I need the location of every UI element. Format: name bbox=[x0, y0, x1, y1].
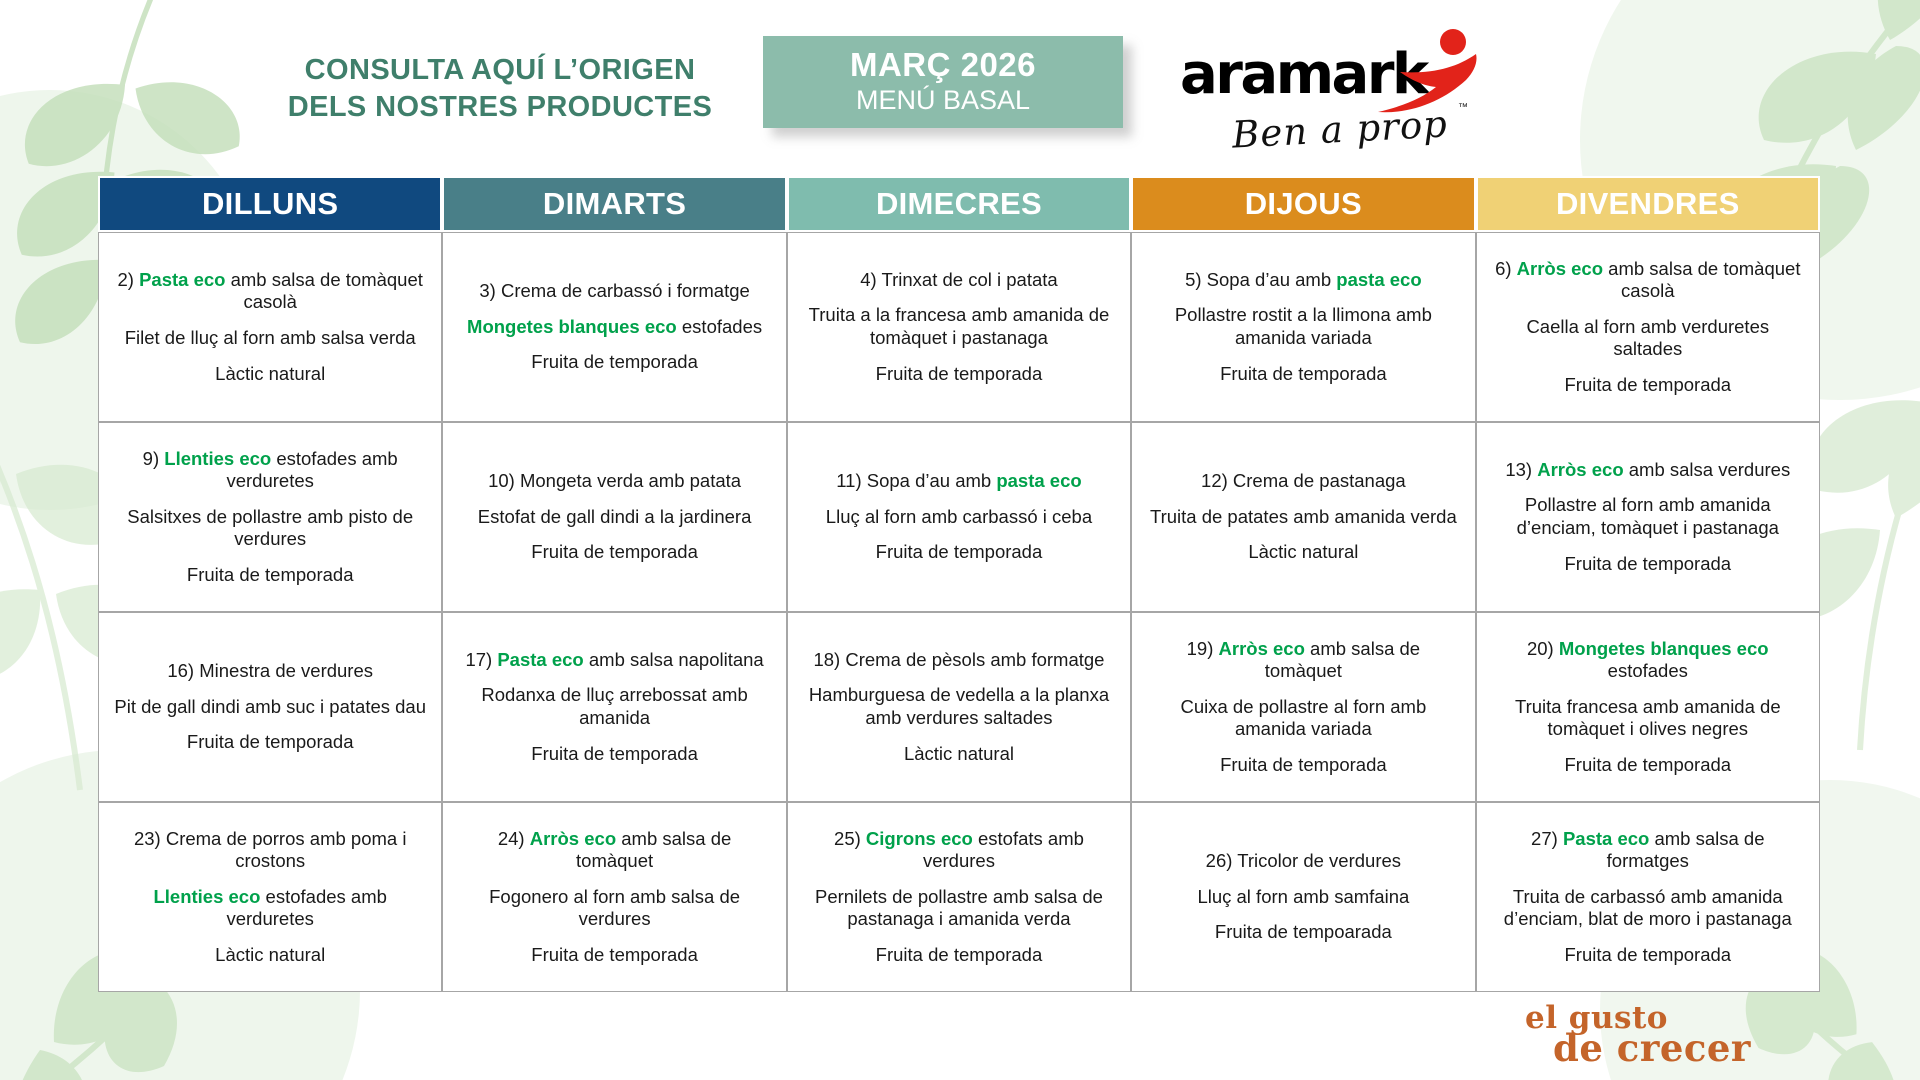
menu-dish-line: Lluç al forn amb carbassó i ceba bbox=[802, 506, 1116, 529]
eco-label: Cigrons eco bbox=[866, 828, 973, 849]
dish-text: 6) bbox=[1495, 258, 1517, 279]
menu-day-cell[interactable]: 2) Pasta eco amb salsa de tomàquet casol… bbox=[98, 232, 442, 422]
dish-text: 5) Sopa d’au amb bbox=[1185, 269, 1336, 290]
menu-dish-line: 25) Cigrons eco estofats amb verdures bbox=[802, 828, 1116, 873]
dish-text: 17) bbox=[465, 649, 497, 670]
dish-text: Làctic natural bbox=[904, 743, 1014, 764]
dish-text: 4) Trinxat de col i patata bbox=[860, 269, 1057, 290]
menu-day-cell[interactable]: 19) Arròs eco amb salsa de tomàquetCuixa… bbox=[1131, 612, 1475, 802]
aramark-tagline: Ben a prop bbox=[1231, 102, 1449, 156]
menu-dish-line: Cuixa de pollastre al forn amb amanida v… bbox=[1146, 696, 1460, 741]
dish-text: Fruita de temporada bbox=[1564, 374, 1731, 395]
menu-dish-line: Fruita de temporada bbox=[802, 541, 1116, 564]
menu-dish-line: 20) Mongetes blanques eco estofades bbox=[1491, 638, 1805, 683]
dish-text: estofades bbox=[677, 316, 762, 337]
dish-text: 16) Minestra de verdures bbox=[167, 660, 373, 681]
calendar-week-row: 23) Crema de porros amb poma i crostonsL… bbox=[98, 802, 1820, 992]
day-header-dimarts: DIMARTS bbox=[442, 176, 786, 232]
dish-text: 19) bbox=[1187, 638, 1219, 659]
aramark-logo: aramark ™ Ben a prop bbox=[1170, 20, 1490, 160]
calendar-week-row: 16) Minestra de verduresPit de gall dind… bbox=[98, 612, 1820, 802]
dish-text: Cuixa de pollastre al forn amb amanida v… bbox=[1180, 696, 1426, 740]
trademark-symbol: ™ bbox=[1458, 102, 1468, 113]
menu-dish-line: Salsitxes de pollastre amb pisto de verd… bbox=[113, 506, 427, 551]
dish-text: Làctic natural bbox=[215, 944, 325, 965]
menu-dish-line: Fruita de temporada bbox=[802, 944, 1116, 967]
dish-text: Salsitxes de pollastre amb pisto de verd… bbox=[127, 506, 413, 550]
eco-label: Llenties eco bbox=[153, 886, 260, 907]
eco-label: Arròs eco bbox=[1219, 638, 1305, 659]
dish-text: 20) bbox=[1527, 638, 1559, 659]
menu-dish-line: Truita a la francesa amb amanida de tomà… bbox=[802, 304, 1116, 349]
dish-text: Truita de carbassó amb amanida d’enciam,… bbox=[1504, 886, 1792, 930]
menu-dish-line: Fruita de temporada bbox=[457, 351, 771, 374]
menu-dish-line: Caella al forn amb verduretes saltades bbox=[1491, 316, 1805, 361]
dish-text: Fruita de temporada bbox=[876, 944, 1043, 965]
calendar-week-row: 2) Pasta eco amb salsa de tomàquet casol… bbox=[98, 232, 1820, 422]
menu-poster: CONSULTA AQUÍ L’ORIGEN DELS NOSTRES PROD… bbox=[0, 0, 1920, 1080]
dish-text: Fruita de temporada bbox=[531, 944, 698, 965]
dish-text: 27) bbox=[1531, 828, 1563, 849]
menu-dish-line: Fogonero al forn amb salsa de verdures bbox=[457, 886, 771, 931]
menu-day-cell[interactable]: 5) Sopa d’au amb pasta ecoPollastre rost… bbox=[1131, 232, 1475, 422]
dish-text: Fruita de temporada bbox=[187, 731, 354, 752]
day-header-dilluns: DILLUNS bbox=[98, 176, 442, 232]
eco-label: pasta eco bbox=[996, 470, 1081, 491]
menu-dish-line: Làctic natural bbox=[802, 743, 1116, 766]
menu-dish-line: 24) Arròs eco amb salsa de tomàquet bbox=[457, 828, 771, 873]
menu-dish-line: Truita francesa amb amanida de tomàquet … bbox=[1491, 696, 1805, 741]
month-title: MARÇ 2026 bbox=[850, 48, 1036, 83]
menu-dish-line: 3) Crema de carbassó i formatge bbox=[457, 280, 771, 303]
dish-text: 3) Crema de carbassó i formatge bbox=[479, 280, 749, 301]
menu-dish-line: Lluç al forn amb samfaina bbox=[1146, 886, 1460, 909]
menu-dish-line: Làctic natural bbox=[113, 363, 427, 386]
origin-heading-line1: CONSULTA AQUÍ L’ORIGEN bbox=[285, 52, 715, 89]
menu-day-cell[interactable]: 3) Crema de carbassó i formatgeMongetes … bbox=[442, 232, 786, 422]
gusto-logo-line2: de crecer bbox=[1553, 1026, 1751, 1070]
dish-text: Fruita de temporada bbox=[1564, 553, 1731, 574]
menu-day-cell[interactable]: 24) Arròs eco amb salsa de tomàquetFogon… bbox=[442, 802, 786, 992]
dish-text: Pit de gall dindi amb suc i patates dau bbox=[114, 696, 426, 717]
dish-text: Fruita de temporada bbox=[876, 363, 1043, 384]
dish-text: 12) Crema de pastanaga bbox=[1201, 470, 1406, 491]
menu-day-cell[interactable]: 25) Cigrons eco estofats amb verduresPer… bbox=[787, 802, 1131, 992]
dish-text: 11) Sopa d’au amb bbox=[836, 470, 996, 491]
calendar-week-row: 9) Llenties eco estofades amb verduretes… bbox=[98, 422, 1820, 612]
menu-dish-line: 17) Pasta eco amb salsa napolitana bbox=[457, 649, 771, 672]
menu-dish-line: Fruita de temporada bbox=[113, 731, 427, 754]
menu-dish-line: Truita de patates amb amanida verda bbox=[1146, 506, 1460, 529]
dish-text: Truita francesa amb amanida de tomàquet … bbox=[1515, 696, 1781, 740]
menu-dish-line: Fruita de temporada bbox=[1491, 754, 1805, 777]
menu-dish-line: 27) Pasta eco amb salsa de formatges bbox=[1491, 828, 1805, 873]
menu-dish-line: 19) Arròs eco amb salsa de tomàquet bbox=[1146, 638, 1460, 683]
menu-day-cell[interactable]: 17) Pasta eco amb salsa napolitanaRodanx… bbox=[442, 612, 786, 802]
menu-day-cell[interactable]: 12) Crema de pastanagaTruita de patates … bbox=[1131, 422, 1475, 612]
menu-dish-line: Pernilets de pollastre amb salsa de past… bbox=[802, 886, 1116, 931]
menu-day-cell[interactable]: 4) Trinxat de col i patataTruita a la fr… bbox=[787, 232, 1131, 422]
dish-text: 18) Crema de pèsols amb formatge bbox=[813, 649, 1104, 670]
dish-text: amb salsa de tomàquet casolà bbox=[1603, 258, 1800, 302]
calendar-header-row: DILLUNSDIMARTSDIMECRESDIJOUSDIVENDRES bbox=[98, 176, 1820, 232]
dish-text: 9) bbox=[143, 448, 165, 469]
eco-label: Pasta eco bbox=[1563, 828, 1649, 849]
dish-text: Fruita de temporada bbox=[1220, 754, 1387, 775]
menu-dish-line: 9) Llenties eco estofades amb verduretes bbox=[113, 448, 427, 493]
menu-dish-line: Fruita de temporada bbox=[457, 541, 771, 564]
menu-dish-line: Pollastre al forn amb amanida d’enciam, … bbox=[1491, 494, 1805, 539]
eco-label: Arròs eco bbox=[1517, 258, 1603, 279]
menu-day-cell[interactable]: 11) Sopa d’au amb pasta ecoLluç al forn … bbox=[787, 422, 1131, 612]
eco-label: pasta eco bbox=[1336, 269, 1421, 290]
menu-dish-line: Fruita de temporada bbox=[1146, 754, 1460, 777]
dish-text: Lluç al forn amb samfaina bbox=[1197, 886, 1409, 907]
origin-heading-line2: DELS NOSTRES PRODUCTES bbox=[285, 89, 715, 126]
menu-dish-line: 5) Sopa d’au amb pasta eco bbox=[1146, 269, 1460, 292]
menu-dish-line: 23) Crema de porros amb poma i crostons bbox=[113, 828, 427, 873]
menu-dish-line: Llenties eco estofades amb verduretes bbox=[113, 886, 427, 931]
menu-day-cell[interactable]: 18) Crema de pèsols amb formatgeHamburgu… bbox=[787, 612, 1131, 802]
menu-dish-line: Fruita de temporada bbox=[457, 743, 771, 766]
eco-label: Arròs eco bbox=[530, 828, 616, 849]
menu-dish-line: Truita de carbassó amb amanida d’enciam,… bbox=[1491, 886, 1805, 931]
dish-text: 2) bbox=[117, 269, 139, 290]
dish-text: Estofat de gall dindi a la jardinera bbox=[478, 506, 752, 527]
menu-dish-line: Fruita de temporada bbox=[1491, 944, 1805, 967]
dish-text: Fruita de temporada bbox=[1564, 754, 1731, 775]
dish-text: Truita de patates amb amanida verda bbox=[1150, 506, 1457, 527]
menu-dish-line: 4) Trinxat de col i patata bbox=[802, 269, 1116, 292]
dish-text: Fruita de temporada bbox=[876, 541, 1043, 562]
eco-label: Pasta eco bbox=[497, 649, 583, 670]
menu-day-cell[interactable]: 27) Pasta eco amb salsa de formatgesTrui… bbox=[1476, 802, 1820, 992]
menu-dish-line: 6) Arròs eco amb salsa de tomàquet casol… bbox=[1491, 258, 1805, 303]
eco-label: Pasta eco bbox=[139, 269, 225, 290]
day-header-divendres: DIVENDRES bbox=[1476, 176, 1820, 232]
dish-text: amb salsa napolitana bbox=[584, 649, 764, 670]
dish-text: Pollastre al forn amb amanida d’enciam, … bbox=[1517, 494, 1779, 538]
menu-dish-line: 18) Crema de pèsols amb formatge bbox=[802, 649, 1116, 672]
el-gusto-de-crecer-logo: el gusto de crecer bbox=[1505, 998, 1755, 1068]
dish-text: Caella al forn amb verduretes saltades bbox=[1526, 316, 1769, 360]
menu-dish-line: 10) Mongeta verda amb patata bbox=[457, 470, 771, 493]
menu-dish-line: Làctic natural bbox=[1146, 541, 1460, 564]
menu-dish-line: 26) Tricolor de verdures bbox=[1146, 850, 1460, 873]
dish-text: Lluç al forn amb carbassó i ceba bbox=[826, 506, 1092, 527]
menu-dish-line: Hamburguesa de vedella a la planxa amb v… bbox=[802, 684, 1116, 729]
eco-label: Mongetes blanques eco bbox=[467, 316, 677, 337]
menu-day-cell[interactable]: 9) Llenties eco estofades amb verduretes… bbox=[98, 422, 442, 612]
dish-text: Fruita de temporada bbox=[531, 743, 698, 764]
dish-text: Truita a la francesa amb amanida de tomà… bbox=[809, 304, 1110, 348]
menu-day-cell[interactable]: 20) Mongetes blanques eco estofadesTruit… bbox=[1476, 612, 1820, 802]
dish-text: Làctic natural bbox=[215, 363, 325, 384]
dish-text: Làctic natural bbox=[1248, 541, 1358, 562]
menu-day-cell[interactable]: 26) Tricolor de verduresLluç al forn amb… bbox=[1131, 802, 1475, 992]
dish-text: 13) bbox=[1505, 459, 1537, 480]
origin-heading: CONSULTA AQUÍ L’ORIGEN DELS NOSTRES PROD… bbox=[285, 52, 715, 126]
menu-dish-line: 11) Sopa d’au amb pasta eco bbox=[802, 470, 1116, 493]
menu-dish-line: Filet de lluç al forn amb salsa verda bbox=[113, 327, 427, 350]
menu-dish-line: Pollastre rostit a la llimona amb amanid… bbox=[1146, 304, 1460, 349]
calendar-body: 2) Pasta eco amb salsa de tomàquet casol… bbox=[98, 232, 1820, 992]
poster-header: CONSULTA AQUÍ L’ORIGEN DELS NOSTRES PROD… bbox=[0, 0, 1920, 170]
dish-text: Pernilets de pollastre amb salsa de past… bbox=[815, 886, 1103, 930]
menu-dish-line: Fruita de temporada bbox=[1491, 553, 1805, 576]
menu-dish-line: Fruita de temporada bbox=[1491, 374, 1805, 397]
menu-dish-line: Fruita de temporada bbox=[113, 564, 427, 587]
dish-text: Pollastre rostit a la llimona amb amanid… bbox=[1175, 304, 1432, 348]
menu-dish-line: Fruita de temporada bbox=[1146, 363, 1460, 386]
dish-text: Fogonero al forn amb salsa de verdures bbox=[489, 886, 740, 930]
menu-calendar-table: DILLUNSDIMARTSDIMECRESDIJOUSDIVENDRES 2)… bbox=[98, 176, 1820, 992]
dish-text: Fruita de temporada bbox=[1564, 944, 1731, 965]
dish-text: 24) bbox=[498, 828, 530, 849]
dish-text: 23) Crema de porros amb poma i crostons bbox=[134, 828, 406, 872]
menu-day-cell[interactable]: 23) Crema de porros amb poma i crostonsL… bbox=[98, 802, 442, 992]
menu-day-cell[interactable]: 13) Arròs eco amb salsa verduresPollastr… bbox=[1476, 422, 1820, 612]
dish-text: 25) bbox=[834, 828, 866, 849]
menu-dish-line: Fruita de temporada bbox=[802, 363, 1116, 386]
dish-text: Fruita de temporada bbox=[531, 351, 698, 372]
dish-text: Rodanxa de lluç arrebossat amb amanida bbox=[481, 684, 747, 728]
dish-text: 10) Mongeta verda amb patata bbox=[488, 470, 741, 491]
menu-dish-line: Mongetes blanques eco estofades bbox=[457, 316, 771, 339]
menu-dish-line: 13) Arròs eco amb salsa verdures bbox=[1491, 459, 1805, 482]
dish-text: Fruita de temporada bbox=[531, 541, 698, 562]
dish-text: Filet de lluç al forn amb salsa verda bbox=[125, 327, 416, 348]
menu-dish-line: 12) Crema de pastanaga bbox=[1146, 470, 1460, 493]
day-header-dijous: DIJOUS bbox=[1131, 176, 1475, 232]
menu-dish-line: Fruita de tempoarada bbox=[1146, 921, 1460, 944]
menu-day-cell[interactable]: 10) Mongeta verda amb patataEstofat de g… bbox=[442, 422, 786, 612]
dish-text: Fruita de tempoarada bbox=[1215, 921, 1392, 942]
menu-type-subtitle: MENÚ BASAL bbox=[856, 85, 1030, 116]
menu-dish-line: Fruita de temporada bbox=[457, 944, 771, 967]
dish-text: estofades bbox=[1608, 660, 1688, 681]
eco-label: Llenties eco bbox=[164, 448, 271, 469]
dish-text: amb salsa verdures bbox=[1624, 459, 1791, 480]
dish-text: amb salsa de tomàquet casolà bbox=[225, 269, 422, 313]
menu-dish-line: Pit de gall dindi amb suc i patates dau bbox=[113, 696, 427, 719]
dish-text: 26) Tricolor de verdures bbox=[1206, 850, 1401, 871]
menu-day-cell[interactable]: 16) Minestra de verduresPit de gall dind… bbox=[98, 612, 442, 802]
eco-label: Mongetes blanques eco bbox=[1559, 638, 1769, 659]
dish-text: Fruita de temporada bbox=[1220, 363, 1387, 384]
dish-text: Hamburguesa de vedella a la planxa amb v… bbox=[809, 684, 1109, 728]
menu-dish-line: Estofat de gall dindi a la jardinera bbox=[457, 506, 771, 529]
month-badge: MARÇ 2026 MENÚ BASAL bbox=[763, 36, 1123, 128]
menu-dish-line: Rodanxa de lluç arrebossat amb amanida bbox=[457, 684, 771, 729]
menu-dish-line: Làctic natural bbox=[113, 944, 427, 967]
dish-text: Fruita de temporada bbox=[187, 564, 354, 585]
menu-dish-line: 16) Minestra de verdures bbox=[113, 660, 427, 683]
menu-day-cell[interactable]: 6) Arròs eco amb salsa de tomàquet casol… bbox=[1476, 232, 1820, 422]
eco-label: Arròs eco bbox=[1537, 459, 1623, 480]
day-header-dimecres: DIMECRES bbox=[787, 176, 1131, 232]
menu-dish-line: 2) Pasta eco amb salsa de tomàquet casol… bbox=[113, 269, 427, 314]
